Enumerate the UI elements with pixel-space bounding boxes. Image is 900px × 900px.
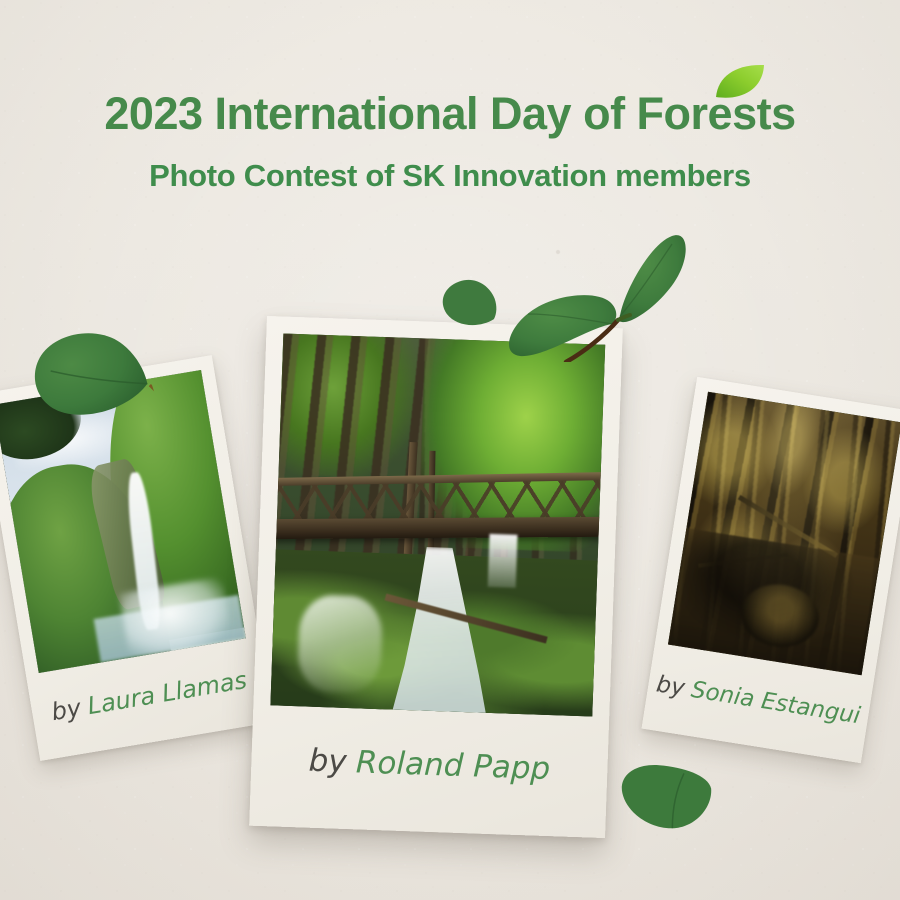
photo-frame: [253, 316, 622, 717]
photo-card-right[interactable]: by Sonia Estangui: [642, 377, 900, 763]
title-accent-leaf-icon: [712, 62, 768, 102]
poster-canvas: 2023 International Day of Forests Photo …: [0, 0, 900, 900]
photo-caption-center: by Roland Papp: [249, 705, 609, 838]
photo-image-autumn-forest: [668, 392, 900, 676]
caption-author-name: Roland Papp: [355, 744, 550, 787]
caption-by-label: by: [308, 742, 347, 779]
leaf-sprig-icon: [500, 232, 690, 362]
photo-frame: [655, 377, 900, 677]
photo-card-center[interactable]: by Roland Papp: [249, 316, 623, 838]
photo-image-forest-bridge: [270, 334, 605, 717]
caption-by-label: by: [49, 693, 83, 725]
caption-author-name: Sonia Estangui: [689, 676, 862, 728]
page-subtitle: Photo Contest of SK Innovation members: [0, 158, 900, 194]
caption-by-label: by: [655, 671, 687, 701]
leaf-icon-bottom-right: [611, 749, 724, 843]
caption-author-name: Laura Llamas: [85, 665, 248, 719]
